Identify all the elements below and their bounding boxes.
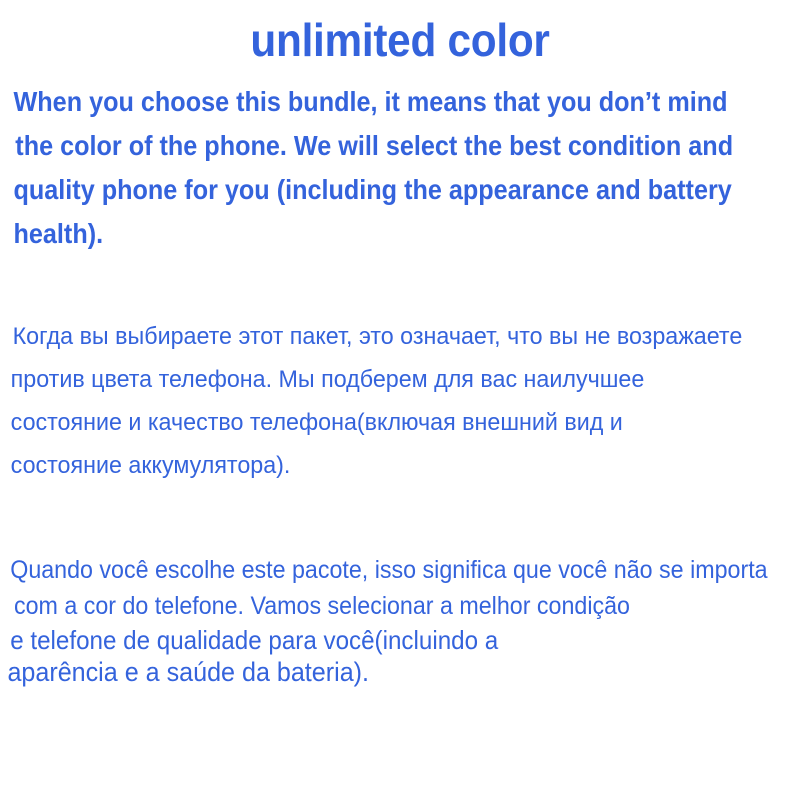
description-section-english: When you choose this bundle, it means th… bbox=[0, 80, 800, 256]
description-line: health). bbox=[0, 212, 720, 256]
description-line: e telefone de qualidade para você(inclui… bbox=[0, 624, 744, 657]
description-line: com a cor do telefone. Vamos selecionar … bbox=[0, 588, 744, 624]
description-line: quality phone for you (including the app… bbox=[0, 168, 720, 212]
description-line: состояние и качество телефона(включая вн… bbox=[0, 401, 776, 444]
description-section-russian: Когда вы выбираете этот пакет, это означ… bbox=[0, 315, 800, 487]
description-line: состояние аккумулятора). bbox=[0, 444, 776, 487]
description-line: Quando você escolhe este pacote, isso si… bbox=[0, 552, 744, 588]
description-line: Когда вы выбираете этот пакет, это означ… bbox=[0, 315, 776, 358]
description-line: When you choose this bundle, it means th… bbox=[0, 80, 720, 124]
description-line: aparência e a saúde da bateria). bbox=[0, 657, 744, 688]
product-description-page: unlimited color When you choose this bun… bbox=[0, 0, 800, 800]
page-title: unlimited color bbox=[32, 14, 768, 66]
description-section-portuguese: Quando você escolhe este pacote, isso si… bbox=[0, 552, 800, 688]
description-line: против цвета телефона. Мы подберем для в… bbox=[0, 358, 776, 401]
description-line: the color of the phone. We will select t… bbox=[0, 124, 720, 168]
